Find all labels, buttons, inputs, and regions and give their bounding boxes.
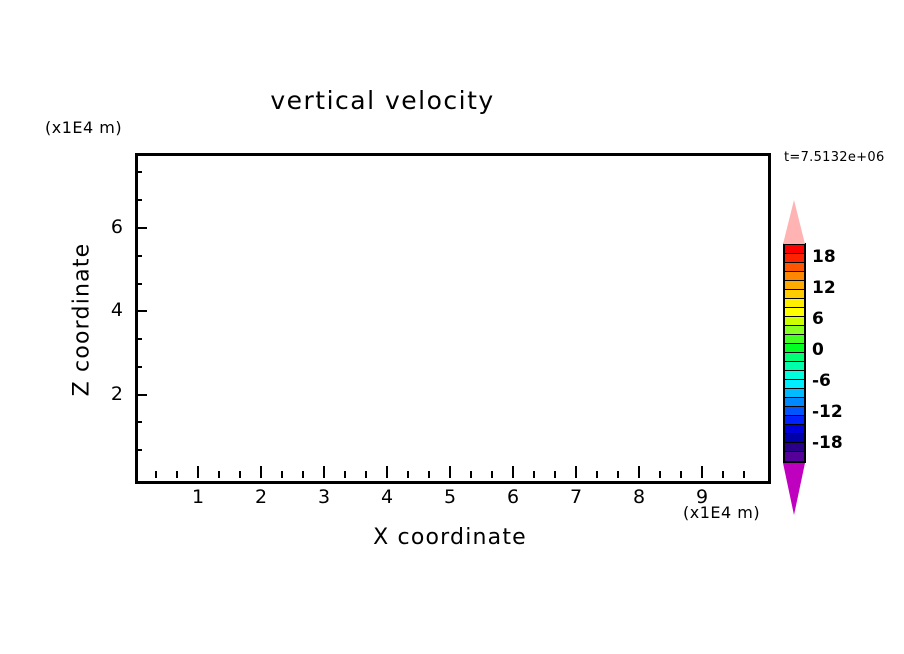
colorbar-band <box>785 263 804 272</box>
x-axis-minor-tick <box>155 471 157 478</box>
x-axis-minor-tick <box>428 471 430 478</box>
colorbar-tick-label: -18 <box>812 433 843 453</box>
y-axis-minor-tick <box>135 366 142 368</box>
x-axis-major-tick <box>323 466 325 478</box>
figure-canvas: vertical velocity (x1E4 m) (x1E4 m) t=7.… <box>0 0 904 654</box>
y-axis-major-tick <box>135 227 147 229</box>
colorbar-band <box>785 425 804 434</box>
x-axis-minor-tick <box>659 471 661 478</box>
y-axis-minor-tick <box>135 338 142 340</box>
y-axis-tick-label: 2 <box>93 383 123 405</box>
x-axis-minor-tick <box>491 471 493 478</box>
x-axis-major-tick <box>197 466 199 478</box>
contour-field <box>138 156 768 481</box>
x-axis-major-tick <box>575 466 577 478</box>
y-axis-unit-label: (x1E4 m) <box>45 118 122 137</box>
x-axis-major-tick <box>512 466 514 478</box>
y-axis-major-tick <box>135 310 147 312</box>
y-axis-minor-tick <box>135 255 142 257</box>
x-axis-minor-tick <box>554 471 556 478</box>
x-axis-tick-label: 8 <box>619 486 659 508</box>
x-axis-minor-tick <box>596 471 598 478</box>
x-axis-tick-label: 6 <box>493 486 533 508</box>
x-axis-major-tick <box>449 466 451 478</box>
colorbar-band <box>785 389 804 398</box>
y-axis-major-tick <box>135 394 147 396</box>
x-axis-tick-label: 7 <box>556 486 596 508</box>
x-axis-tick-label: 4 <box>367 486 407 508</box>
timestamp-annotation: t=7.5132e+06 <box>784 150 885 165</box>
colorbar-extend-high-arrow <box>783 200 805 244</box>
colorbar-band <box>785 299 804 308</box>
page-title: vertical velocity <box>0 86 765 115</box>
x-axis-minor-tick <box>533 471 535 478</box>
x-axis-title: X coordinate <box>135 525 765 550</box>
colorbar-band <box>785 380 804 389</box>
colorbar-band <box>785 245 804 254</box>
colorbar-tick-label: 12 <box>812 278 836 298</box>
colorbar-band <box>785 317 804 326</box>
colorbar-band <box>785 290 804 299</box>
colorbar <box>783 243 806 463</box>
colorbar-tick-label: 18 <box>812 247 836 267</box>
x-axis-minor-tick <box>407 471 409 478</box>
x-axis-minor-tick <box>743 471 745 478</box>
x-axis-major-tick <box>260 466 262 478</box>
colorbar-band <box>785 326 804 335</box>
x-axis-tick-label: 1 <box>178 486 218 508</box>
colorbar-band <box>785 272 804 281</box>
x-axis-major-tick <box>386 466 388 478</box>
x-axis-minor-tick <box>176 471 178 478</box>
x-axis-major-tick <box>638 466 640 478</box>
y-axis-minor-tick <box>135 421 142 423</box>
x-axis-minor-tick <box>365 471 367 478</box>
x-axis-minor-tick <box>680 471 682 478</box>
y-axis-minor-tick <box>135 283 142 285</box>
x-axis-minor-tick <box>470 471 472 478</box>
colorbar-band <box>785 416 804 425</box>
colorbar-band <box>785 353 804 362</box>
colorbar-tick-label: 0 <box>812 340 824 360</box>
colorbar-band <box>785 443 804 452</box>
colorbar-band <box>785 254 804 263</box>
colorbar-band <box>785 452 804 461</box>
x-axis-minor-tick <box>218 471 220 478</box>
colorbar-band <box>785 344 804 353</box>
colorbar-band <box>785 335 804 344</box>
x-axis-tick-label: 5 <box>430 486 470 508</box>
x-axis-major-tick <box>701 466 703 478</box>
y-axis-title: Z coordinate <box>70 210 95 430</box>
y-axis-minor-tick <box>135 449 142 451</box>
x-axis-minor-tick <box>344 471 346 478</box>
x-axis-minor-tick <box>281 471 283 478</box>
plot-area <box>135 153 771 484</box>
x-axis-minor-tick <box>302 471 304 478</box>
colorbar-band <box>785 371 804 380</box>
x-axis-tick-label: 9 <box>682 486 722 508</box>
x-axis-minor-tick <box>239 471 241 478</box>
colorbar-band <box>785 362 804 371</box>
colorbar-tick-label: 6 <box>812 309 824 329</box>
colorbar-band <box>785 407 804 416</box>
x-axis-minor-tick <box>617 471 619 478</box>
colorbar-band <box>785 281 804 290</box>
y-axis-tick-label: 6 <box>93 216 123 238</box>
x-axis-tick-label: 3 <box>304 486 344 508</box>
y-axis-minor-tick <box>135 199 142 201</box>
x-axis-minor-tick <box>722 471 724 478</box>
y-axis-tick-label: 4 <box>93 299 123 321</box>
colorbar-band <box>785 308 804 317</box>
colorbar-extend-low-arrow <box>783 463 805 515</box>
colorbar-tick-label: -12 <box>812 402 843 422</box>
x-axis-tick-label: 2 <box>241 486 281 508</box>
colorbar-tick-label: -6 <box>812 371 831 391</box>
y-axis-minor-tick <box>135 171 142 173</box>
colorbar-band <box>785 434 804 443</box>
colorbar-band <box>785 398 804 407</box>
